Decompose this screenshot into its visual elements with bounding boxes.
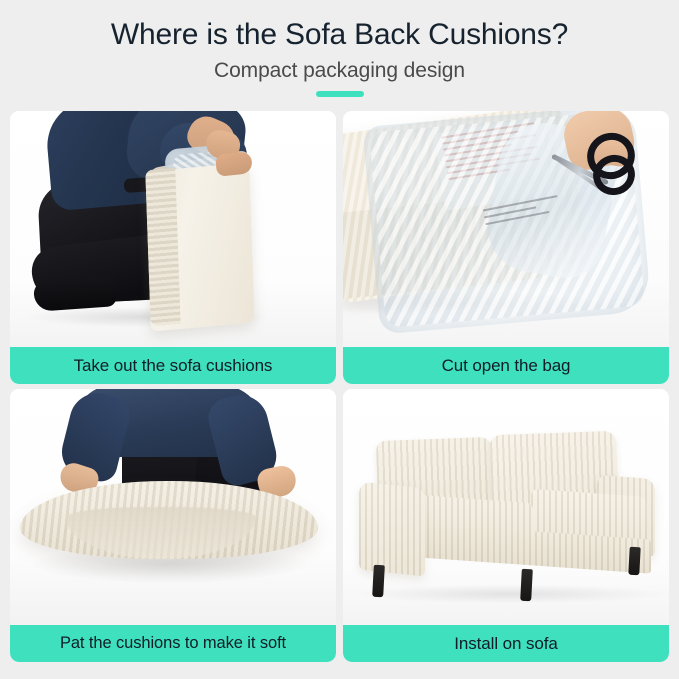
page-title: Where is the Sofa Back Cushions?	[0, 17, 679, 53]
accent-divider	[316, 91, 364, 97]
step-card-1: Take out the sofa cushions	[10, 111, 336, 384]
sofa	[343, 389, 669, 625]
step-3-caption: Pat the cushions to make it soft	[10, 625, 336, 662]
corduroy-texture	[359, 482, 425, 577]
step-4-caption: Install on sofa	[343, 625, 669, 662]
floor-shadow	[361, 585, 661, 603]
step-1-caption: Take out the sofa cushions	[10, 347, 336, 384]
step-2-photo	[343, 111, 669, 347]
step-4-photo	[343, 389, 669, 625]
infographic-page: Where is the Sofa Back Cushions? Compact…	[0, 0, 679, 679]
person-foot	[33, 276, 117, 312]
sofa-leg-front-left	[372, 565, 385, 598]
step-card-3: Pat the cushions to make it soft	[10, 389, 336, 662]
page-header: Where is the Sofa Back Cushions? Compact…	[0, 0, 679, 97]
step-1-photo	[10, 111, 336, 347]
steps-grid: Take out the sofa cushions	[10, 111, 669, 662]
sofa-leg-front-right	[520, 569, 533, 602]
cushion-corduroy-side	[145, 168, 180, 327]
step-3-photo	[10, 389, 336, 625]
step-card-2: Cut open the bag	[343, 111, 669, 384]
sofa-leg-back-right	[628, 547, 640, 576]
step-card-4: Install on sofa	[343, 389, 669, 662]
sofa-arm-left	[359, 482, 425, 577]
page-subtitle: Compact packaging design	[0, 58, 679, 84]
step-2-caption: Cut open the bag	[343, 347, 669, 384]
